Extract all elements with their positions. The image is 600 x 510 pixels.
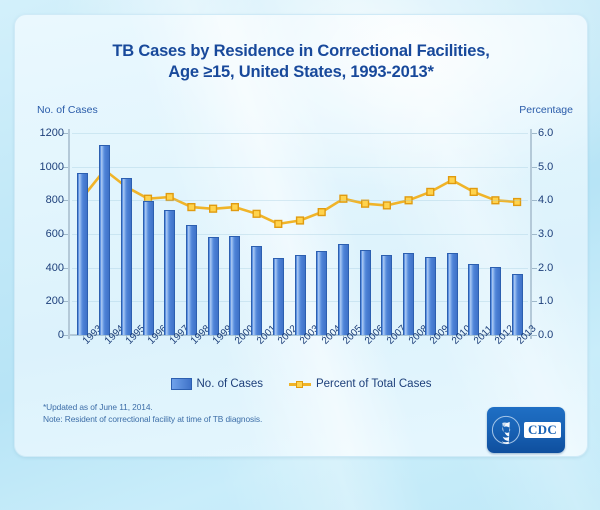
bar-2001 — [251, 246, 262, 335]
y-axis-label-right: 4.0 — [538, 194, 580, 206]
axis-tick — [532, 268, 537, 269]
y-axis-label-left: 800 — [22, 194, 64, 206]
y-axis-label-left: 1000 — [22, 161, 64, 173]
y-axis-label-left: 600 — [22, 228, 64, 240]
left-axis-caption: No. of Cases — [37, 104, 98, 116]
y-axis-label-right: 2.0 — [538, 262, 580, 274]
bar-2013 — [512, 274, 523, 335]
y-axis-label-left: 1200 — [22, 127, 64, 139]
footnote-updated: *Updated as of June 11, 2014. — [43, 401, 262, 413]
bar-1995 — [121, 178, 132, 335]
percent-marker-2007 — [384, 202, 391, 209]
percent-marker-2010 — [449, 177, 456, 184]
bar-1999 — [208, 237, 219, 335]
legend-label-percent: Percent of Total Cases — [316, 378, 432, 390]
bar-1996 — [143, 201, 154, 335]
slide-canvas: TB Cases by Residence in Correctional Fa… — [0, 0, 600, 510]
legend-item-percent: Percent of Total Cases — [289, 378, 432, 390]
bar-1993 — [77, 173, 88, 335]
percent-marker-2000 — [232, 204, 239, 211]
y-axis-left — [68, 129, 70, 339]
footnote-definition: Note: Resident of correctional facility … — [43, 413, 262, 425]
bar-2009 — [425, 257, 436, 335]
bar-2000 — [229, 236, 240, 335]
bar-2007 — [381, 255, 392, 335]
bar-2011 — [468, 264, 479, 335]
plot-area: 00.02001.04002.06003.08004.010005.012006… — [72, 133, 528, 335]
title-line-1: TB Cases by Residence in Correctional Fa… — [15, 41, 587, 62]
right-axis-caption: Percentage — [519, 104, 573, 116]
gridline — [72, 133, 528, 134]
axis-tick — [532, 234, 537, 235]
legend-label-cases: No. of Cases — [197, 378, 263, 390]
chart-legend: No. of Cases Percent of Total Cases — [15, 375, 587, 393]
page-title: TB Cases by Residence in Correctional Fa… — [15, 41, 587, 83]
y-axis-label-right: 3.0 — [538, 228, 580, 240]
bar-2004 — [316, 251, 327, 335]
gridline — [72, 234, 528, 235]
gridline — [72, 167, 528, 168]
bar-2012 — [490, 267, 501, 335]
percent-marker-2009 — [427, 189, 434, 196]
axis-tick — [532, 200, 537, 201]
legend-item-cases: No. of Cases — [171, 378, 263, 390]
y-axis-label-right: 5.0 — [538, 161, 580, 173]
percent-marker-1999 — [210, 205, 217, 212]
cdc-wordmark: CDC — [524, 422, 561, 438]
y-axis-label-right: 0.0 — [538, 329, 580, 341]
gridline — [72, 200, 528, 201]
cdc-logo: CDC — [487, 407, 565, 453]
y-axis-label-right: 6.0 — [538, 127, 580, 139]
percent-marker-2002 — [275, 221, 282, 228]
y-axis-label-left: 200 — [22, 295, 64, 307]
percent-marker-2001 — [253, 210, 260, 217]
axis-tick — [532, 301, 537, 302]
footnotes: *Updated as of June 11, 2014. Note: Resi… — [43, 401, 262, 425]
title-line-2: Age ≥15, United States, 1993-2013* — [15, 62, 587, 83]
bar-2005 — [338, 244, 349, 335]
bar-2010 — [447, 253, 458, 335]
bar-2002 — [273, 258, 284, 335]
line-swatch-icon — [289, 379, 311, 389]
percent-marker-1998 — [188, 204, 195, 211]
bar-swatch-icon — [171, 378, 192, 390]
percent-marker-2003 — [297, 217, 304, 224]
bar-1994 — [99, 145, 110, 335]
bar-2008 — [403, 253, 414, 335]
y-axis-label-left: 0 — [22, 329, 64, 341]
bar-2003 — [295, 255, 306, 335]
percent-marker-2011 — [470, 189, 477, 196]
bar-2006 — [360, 250, 371, 336]
chart-panel: TB Cases by Residence in Correctional Fa… — [14, 14, 588, 457]
hhs-seal-icon — [491, 415, 521, 445]
axis-tick — [532, 167, 537, 168]
axis-tick — [532, 133, 537, 134]
bar-1997 — [164, 210, 175, 335]
percent-marker-2004 — [318, 209, 325, 216]
bar-1998 — [186, 225, 197, 335]
y-axis-label-right: 1.0 — [538, 295, 580, 307]
y-axis-label-left: 400 — [22, 262, 64, 274]
